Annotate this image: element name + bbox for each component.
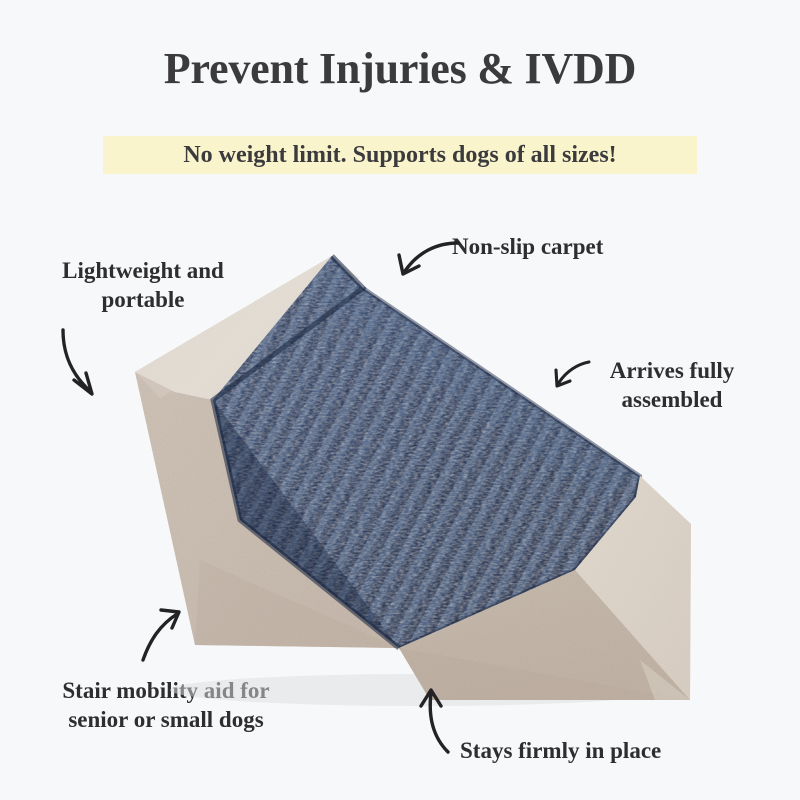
arrow-stair [143, 610, 179, 660]
callout-stays: Stays firmly in place [460, 736, 744, 765]
foam-right-border [575, 476, 691, 700]
callout-arrives: Arrives fully assembled [572, 356, 772, 415]
page-title: Prevent Injuries & IVDD [0, 46, 800, 92]
arrow-lightweight [63, 330, 92, 394]
arrow-non-slip [399, 243, 458, 274]
callout-non-slip: Non-slip carpet [452, 232, 692, 261]
arrow-stays [421, 690, 448, 752]
callout-lightweight: Lightweight and portable [14, 256, 272, 315]
foam-base-edge [399, 570, 690, 700]
infographic-canvas: Prevent Injuries & IVDD No weight limit.… [0, 0, 800, 800]
highlight-banner-label: No weight limit. Supports dogs of all si… [103, 136, 697, 174]
callout-stair: Stair mobility aid for senior or small d… [8, 676, 324, 735]
